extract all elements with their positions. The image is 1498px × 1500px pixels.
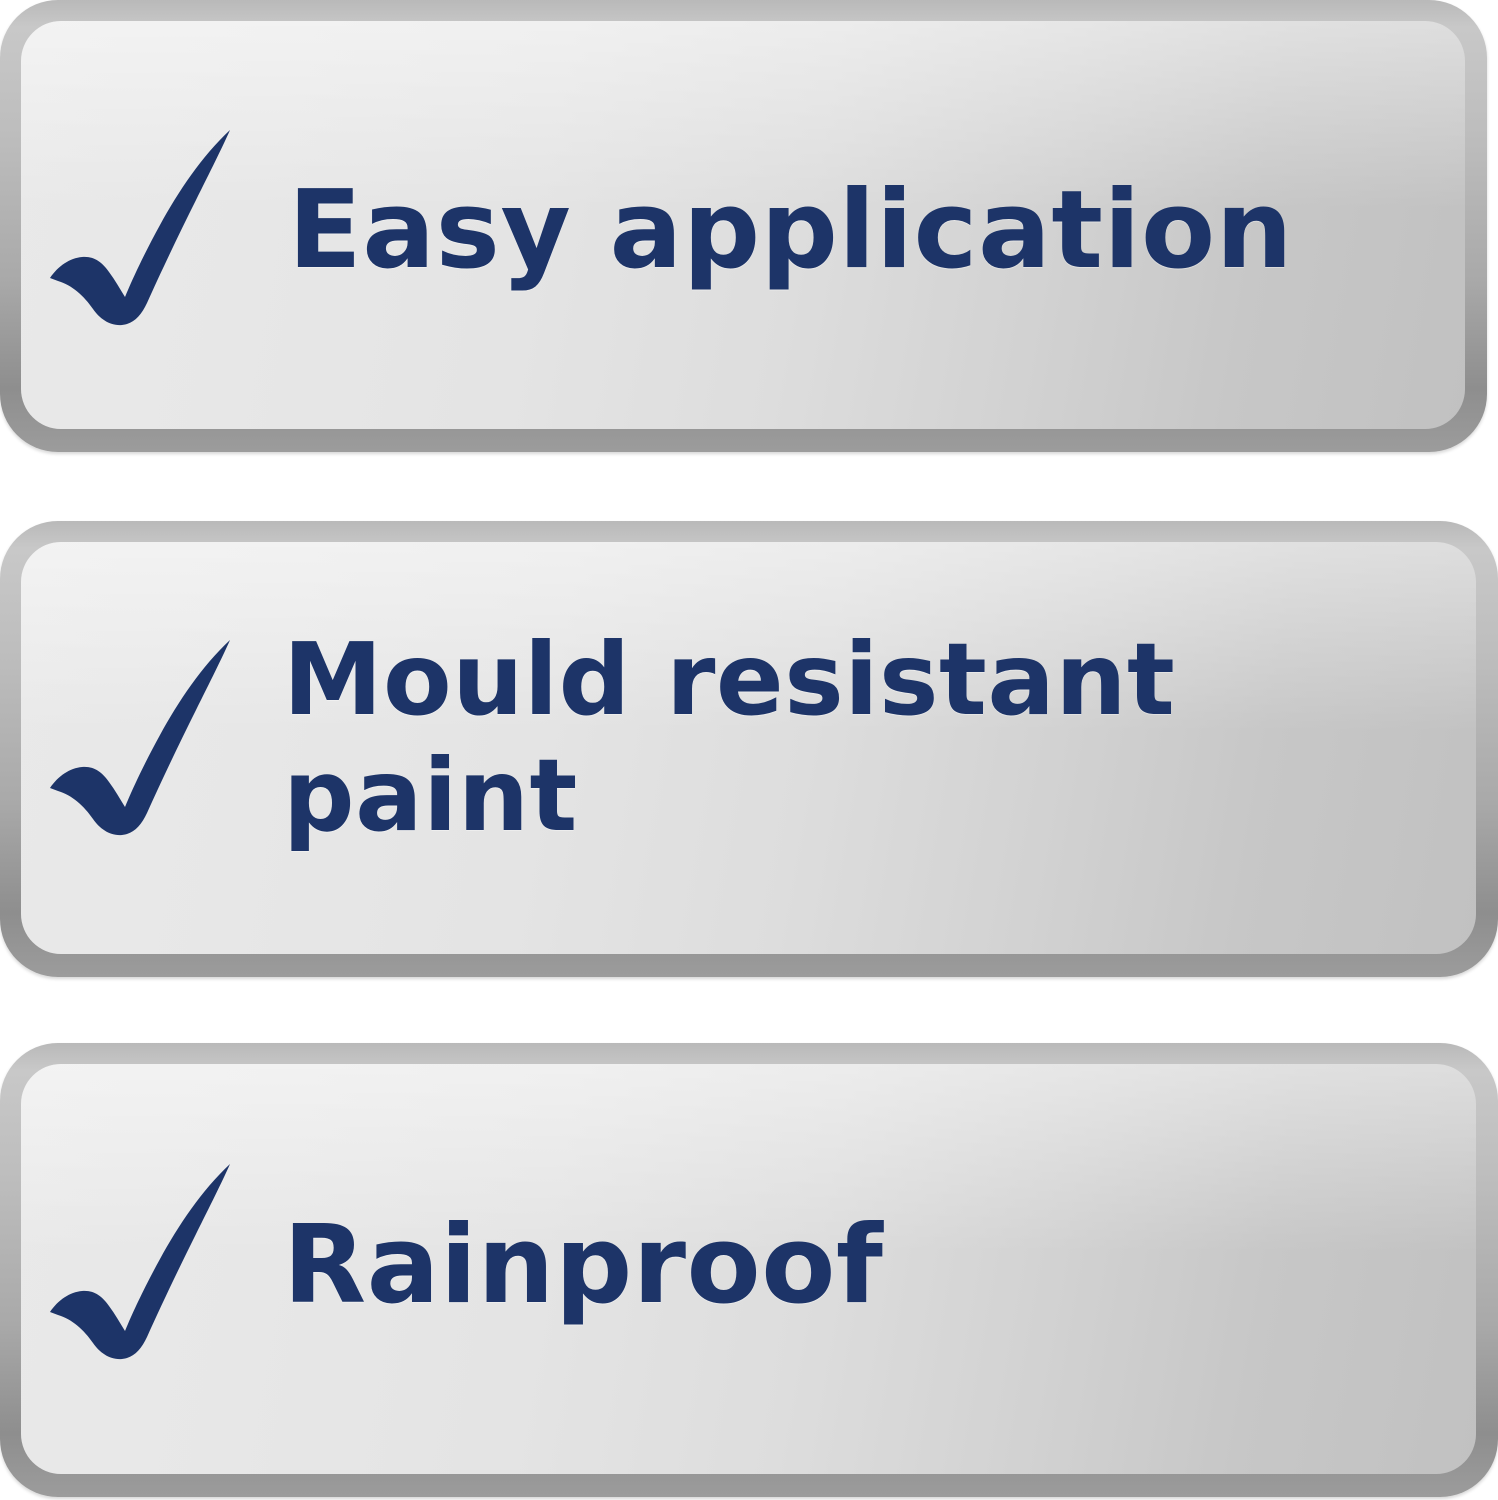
feature-label-easy-application: Easy application [288, 168, 1293, 293]
feature-label-rainproof: Rainproof [283, 1203, 883, 1328]
feature-badge-list: Easy application Mould resistant paint R… [0, 0, 1498, 1500]
feature-label-mould-resistant-paint: Mould resistant paint [283, 622, 1175, 854]
